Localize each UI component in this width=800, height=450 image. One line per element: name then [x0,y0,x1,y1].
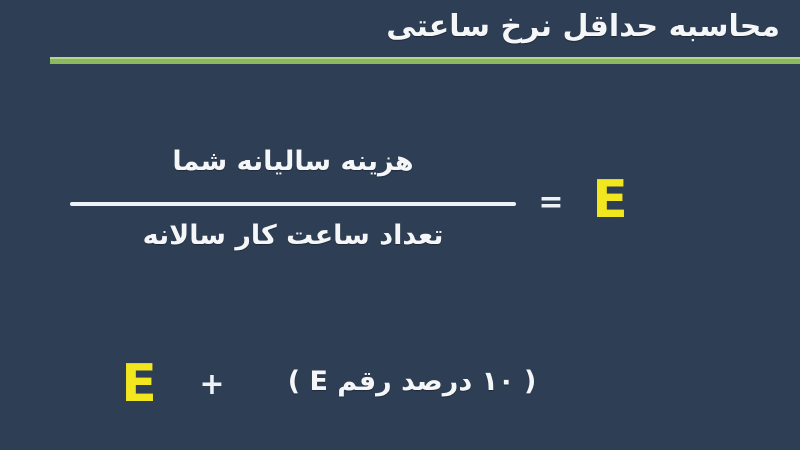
fraction-numerator: هزینه سالیانه شما [70,142,516,182]
fraction-bar-divider [70,202,516,206]
slide-canvas: محاسبه حداقل نرخ ساعتی هزینه سالیانه شما… [0,0,800,450]
equals-sign: = [534,184,568,222]
page-title: محاسبه حداقل نرخ ساعتی [60,6,780,48]
percent-expression: ( ۱۰ درصد رقم E ) [262,360,562,404]
primary-equation: هزینه سالیانه شما تعداد ساعت کار سالانه … [0,128,800,288]
fraction-denominator: تعداد ساعت کار سالانه [70,216,516,256]
plus-sign: + [194,366,230,404]
title-underline-divider [50,57,800,64]
secondary-equation: E + ( ۱۰ درصد رقم E ) [0,352,800,424]
addend-variable-e: E [116,354,162,414]
slide-header: محاسبه حداقل نرخ ساعتی [0,0,800,64]
result-variable-e: E [586,170,634,230]
fraction-expression: هزینه سالیانه شما تعداد ساعت کار سالانه [70,128,516,278]
